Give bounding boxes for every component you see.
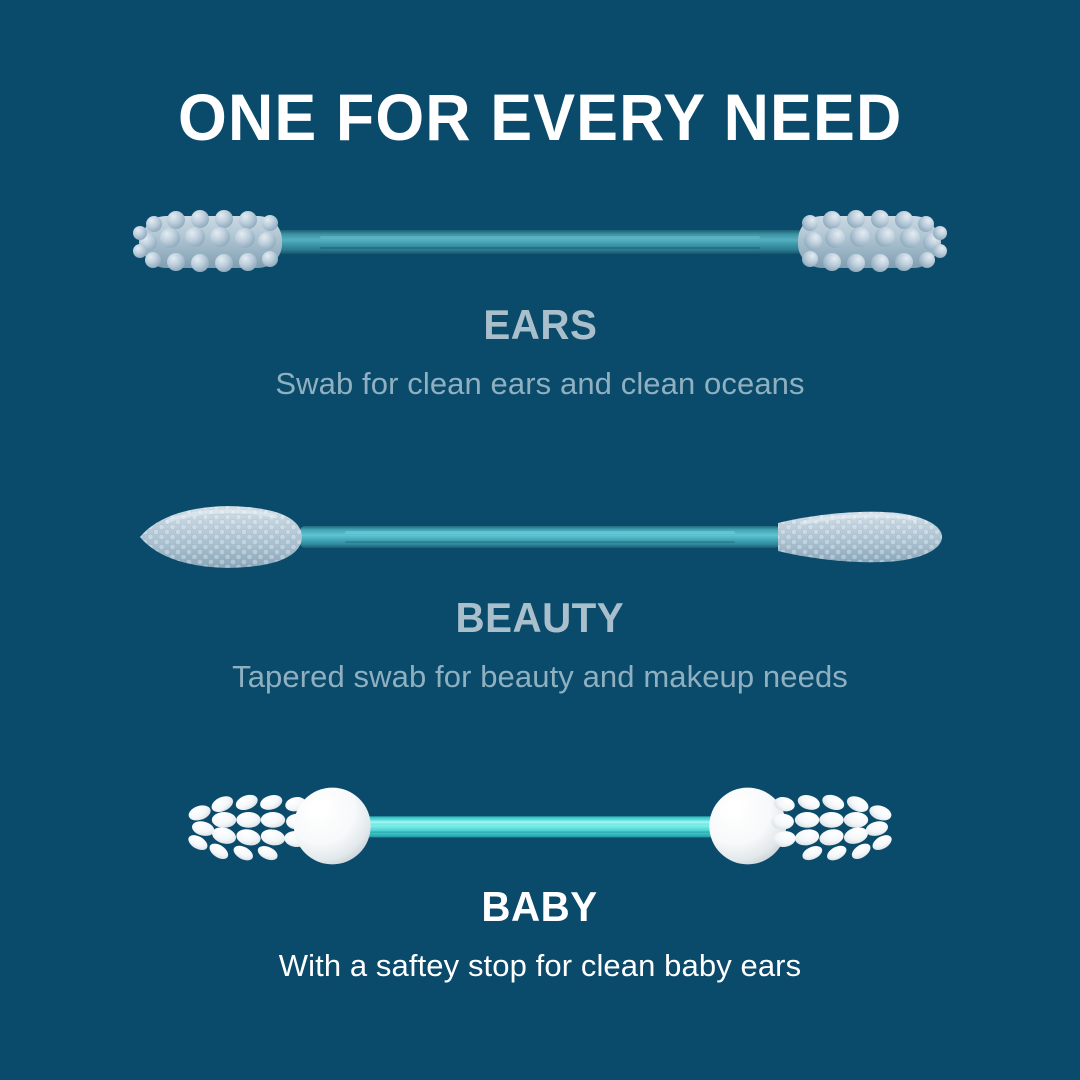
- baby-swab-left-spikes: [186, 792, 309, 863]
- product-row-baby: BABY With a saftey stop for clean baby e…: [0, 778, 1080, 981]
- baby-swab-left-safety-stop: [294, 788, 371, 865]
- beauty-swab-icon: [120, 489, 960, 585]
- product-row-ears: EARS Swab for clean ears and clean ocean…: [0, 194, 1080, 399]
- product-caption-beauty: Tapered swab for beauty and makeup needs: [232, 661, 848, 692]
- ear-swab-left-tip: [133, 210, 282, 272]
- ear-swab-right-tip: [798, 210, 947, 272]
- product-label-beauty: BEAUTY: [456, 597, 625, 639]
- product-caption-baby: With a saftey stop for clean baby ears: [279, 950, 801, 981]
- product-caption-ears: Swab for clean ears and clean oceans: [275, 368, 804, 399]
- product-label-ears: EARS: [483, 304, 597, 346]
- beauty-swab-right-tip: [778, 512, 942, 563]
- product-row-beauty: BEAUTY Tapered swab for beauty and makeu…: [0, 489, 1080, 692]
- page-title: ONE FOR EVERY NEED: [178, 84, 902, 150]
- product-label-baby: BABY: [482, 886, 598, 928]
- product-list: EARS Swab for clean ears and clean ocean…: [0, 194, 1080, 981]
- infographic-canvas: ONE FOR EVERY NEED: [0, 0, 1080, 1080]
- baby-swab-icon: [120, 778, 960, 874]
- ear-swab-icon: [120, 194, 960, 290]
- baby-swab-right-spikes: [771, 792, 894, 863]
- beauty-swab-left-tip: [140, 506, 302, 568]
